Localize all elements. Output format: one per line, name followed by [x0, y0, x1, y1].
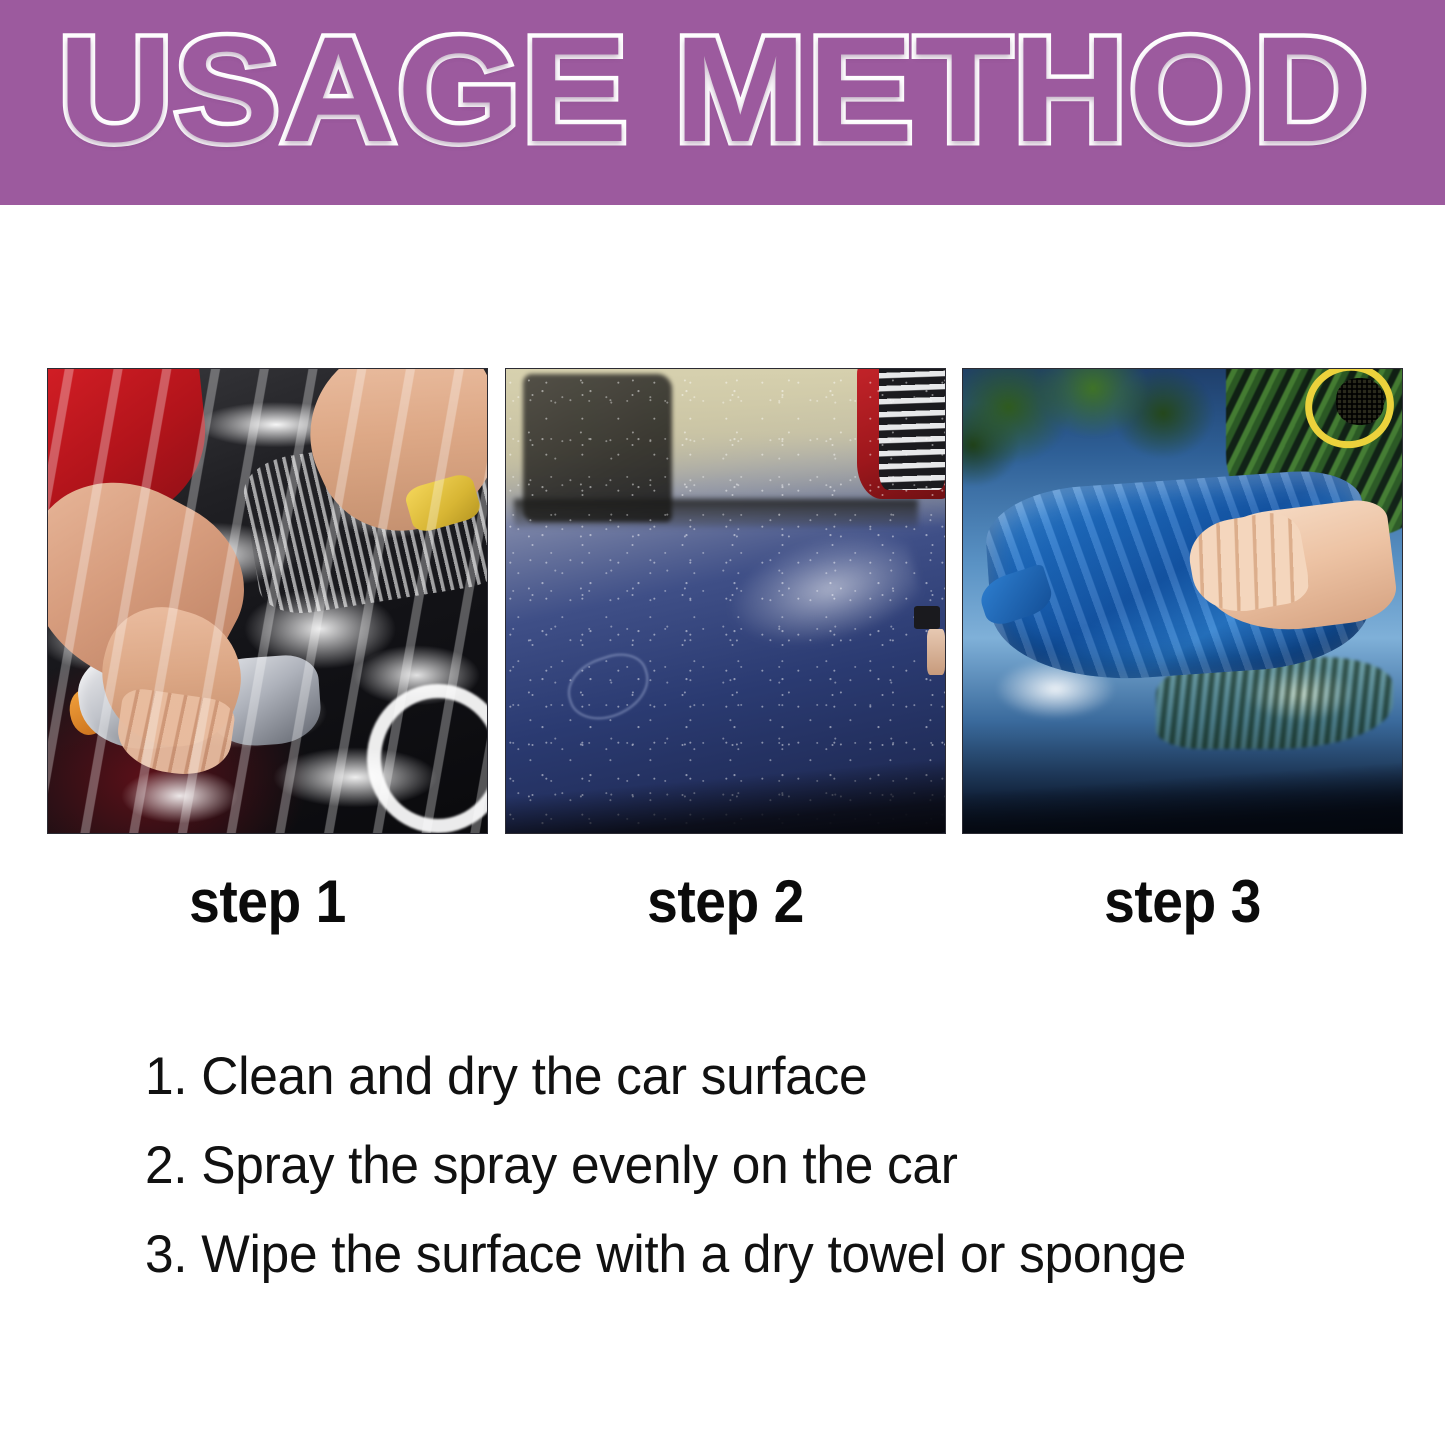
step-label-1: step 1	[65, 866, 471, 938]
spray-nozzle	[914, 606, 940, 629]
spray-bottle-hand	[927, 629, 945, 675]
step-label-row: step 1 step 2 step 3	[47, 866, 1403, 938]
step-label-2: step 2	[522, 866, 928, 938]
instruction-item-3: 3. Wipe the surface with a dry towel or …	[145, 1210, 1309, 1299]
instruction-item-2: 2. Spray the spray evenly on the car	[145, 1121, 1309, 1210]
dark-mesh-detail	[1336, 378, 1384, 424]
page-title: USAGE METHOD	[58, 14, 1224, 164]
hood-edge-shadow	[963, 760, 1402, 833]
usage-method-infographic: USAGE METHOD	[0, 0, 1445, 1445]
instruction-item-1: 1. Clean and dry the car surface	[145, 1032, 1309, 1121]
step-photo-1-car-wash-foam	[47, 368, 488, 834]
step-photo-row	[47, 368, 1403, 834]
photo-2-scene	[506, 369, 945, 833]
step-photo-2-spray-on-hood	[505, 368, 946, 834]
header-banner: USAGE METHOD	[0, 0, 1445, 205]
step-label-3: step 3	[980, 866, 1386, 938]
photo-1-scene	[48, 369, 487, 833]
instruction-list: 1. Clean and dry the car surface 2. Spra…	[145, 1032, 1345, 1299]
step-photo-3-towel-wipe	[962, 368, 1403, 834]
foam-texture-overlay	[48, 369, 487, 833]
photo-3-scene	[963, 369, 1402, 833]
